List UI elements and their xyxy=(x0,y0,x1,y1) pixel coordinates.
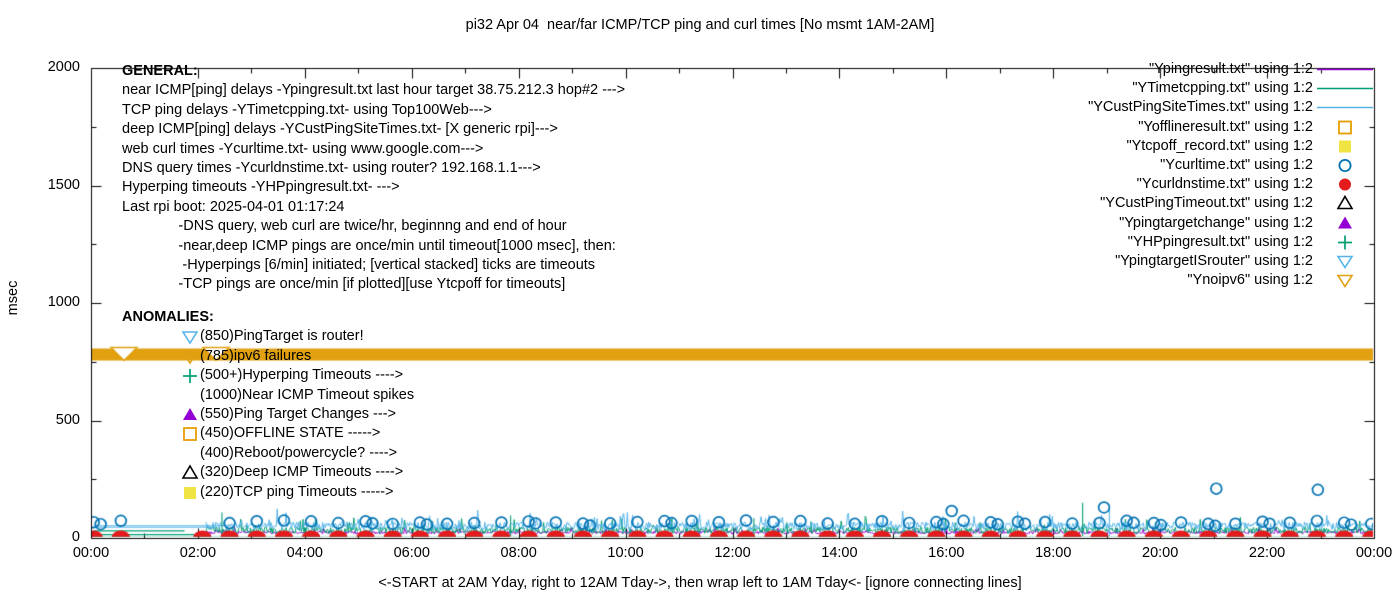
x-tick-label: 04:00 xyxy=(265,545,345,561)
legend-item[interactable]: "YCustPingTimeout.txt" using 1:2 xyxy=(1010,194,1375,213)
anomaly-item: (220)TCP ping Timeouts -----> xyxy=(122,483,642,502)
legend-item[interactable]: "Ypingtargetchange" using 1:2 xyxy=(1010,214,1375,233)
legend-item[interactable]: "YHPpingresult.txt" using 1:2 xyxy=(1010,233,1375,252)
anomaly-label: (1000)Near ICMP Timeout spikes xyxy=(200,387,414,403)
x-tick-label: 12:00 xyxy=(693,545,773,561)
legend-item[interactable]: "YTimetcpping.txt" using 1:2 xyxy=(1010,79,1375,98)
legend-item-label: "Ypingresult.txt" using 1:2 xyxy=(1149,60,1313,79)
general-note-line: Hyperping timeouts -YHPpingresult.txt- -… xyxy=(122,178,625,197)
x-tick-label: 08:00 xyxy=(479,545,559,561)
x-tick-label: 00:00 xyxy=(1334,545,1400,561)
anomaly-label: (450)OFFLINE STATE -----> xyxy=(200,425,380,441)
anomaly-item: (400)Reboot/powercycle? ----> xyxy=(122,444,642,463)
legend-item[interactable]: "YpingtargetISrouter" using 1:2 xyxy=(1010,252,1375,271)
legend-key-triangle-filled-icon xyxy=(1315,214,1375,233)
general-note-line: web curl times -Ycurltime.txt- using www… xyxy=(122,140,625,159)
y-axis-ticks: 0500100015002000 xyxy=(20,0,80,600)
anomaly-label: (220)TCP ping Timeouts -----> xyxy=(200,484,394,500)
x-tick-label: 20:00 xyxy=(1120,545,1200,561)
anomaly-triangle-down-open-icon xyxy=(180,327,200,346)
legend-item[interactable]: "Ytcpoff_record.txt" using 1:2 xyxy=(1010,137,1375,156)
legend-item-label: "YpingtargetISrouter" using 1:2 xyxy=(1115,252,1313,271)
x-tick-label: 02:00 xyxy=(158,545,238,561)
anomaly-item: (320)Deep ICMP Timeouts ----> xyxy=(122,463,642,482)
x-tick-label: 22:00 xyxy=(1227,545,1307,561)
legend-item[interactable]: "Ypingresult.txt" using 1:2 xyxy=(1010,60,1375,79)
anomaly-label: (550)Ping Target Changes ---> xyxy=(200,406,396,422)
legend-key-line-icon xyxy=(1315,79,1375,98)
general-note-line: -TCP pings are once/min [if plotted][use… xyxy=(122,275,625,294)
legend-item-label: "YTimetcpping.txt" using 1:2 xyxy=(1132,79,1313,98)
general-note-line: -Hyperpings [6/min] initiated; [vertical… xyxy=(122,256,625,275)
legend-key-line-icon xyxy=(1315,60,1375,79)
legend-item-label: "Yofflineresult.txt" using 1:2 xyxy=(1138,118,1313,137)
anomaly-label: (850)PingTarget is router! xyxy=(200,328,364,344)
anomaly-label: (500+)Hyperping Timeouts ----> xyxy=(200,367,403,383)
legend-key-circle-filled-icon xyxy=(1315,175,1375,194)
x-tick-label: 10:00 xyxy=(586,545,666,561)
y-tick-label: 1500 xyxy=(20,177,80,193)
x-tick-label: 00:00 xyxy=(51,545,131,561)
legend-item-label: "Ytcpoff_record.txt" using 1:2 xyxy=(1126,137,1313,156)
anomaly-none-icon xyxy=(180,386,200,405)
legend-key-circle-open-icon xyxy=(1315,156,1375,175)
legend-item[interactable]: "Ycurltime.txt" using 1:2 xyxy=(1010,156,1375,175)
x-tick-label: 16:00 xyxy=(906,545,986,561)
anomaly-triangle-open-icon xyxy=(180,463,200,482)
general-note-line: -DNS query, web curl are twice/hr, begin… xyxy=(122,217,625,236)
general-heading: GENERAL: xyxy=(122,62,625,81)
x-tick-label: 14:00 xyxy=(799,545,879,561)
anomaly-square-filled-icon xyxy=(180,483,200,502)
x-tick-label: 06:00 xyxy=(372,545,452,561)
legend-key-triangle-open-icon xyxy=(1315,194,1375,213)
legend-key-square-open-icon xyxy=(1315,118,1375,137)
general-note-line: -near,deep ICMP pings are once/min until… xyxy=(122,237,625,256)
y-axis-label: msec xyxy=(5,268,21,328)
anomaly-label: (785)ipv6 failures xyxy=(200,348,311,364)
legend-key-triangle-down-orange-icon xyxy=(1315,271,1375,290)
anomalies-block: ANOMALIES:(850)PingTarget is router!(785… xyxy=(122,308,642,502)
general-note-line: near ICMP[ping] delays -Ypingresult.txt … xyxy=(122,81,625,100)
chart-root: pi32 Apr 04 near/far ICMP/TCP ping and c… xyxy=(0,0,1400,600)
anomaly-square-open-icon xyxy=(180,424,200,443)
anomaly-item: (785)ipv6 failures xyxy=(122,347,642,366)
general-notes-block: GENERAL:near ICMP[ping] delays -Ypingres… xyxy=(122,62,625,295)
legend-key-plus-icon xyxy=(1315,233,1375,252)
general-note-line: DNS query times -Ycurldnstime.txt- using… xyxy=(122,159,625,178)
legend-item-label: "YCustPingTimeout.txt" using 1:2 xyxy=(1100,194,1313,213)
general-note-line: TCP ping delays -YTimetcpping.txt- using… xyxy=(122,101,625,120)
legend-item[interactable]: "Ycurldnstime.txt" using 1:2 xyxy=(1010,175,1375,194)
anomaly-label: (400)Reboot/powercycle? ----> xyxy=(200,445,397,461)
general-note-line: Last rpi boot: 2025-04-01 01:17:24 xyxy=(122,198,625,217)
legend-key-triangle-down-open-icon xyxy=(1315,252,1375,271)
anomaly-item: (1000)Near ICMP Timeout spikes xyxy=(122,386,642,405)
general-note-line: deep ICMP[ping] delays -YCustPingSiteTim… xyxy=(122,120,625,139)
legend-item-label: "YHPpingresult.txt" using 1:2 xyxy=(1128,233,1313,252)
legend-item-label: "Ycurltime.txt" using 1:2 xyxy=(1160,156,1313,175)
anomaly-none-icon xyxy=(180,444,200,463)
anomaly-item: (550)Ping Target Changes ---> xyxy=(122,405,642,424)
legend-item-label: "Ynoipv6" using 1:2 xyxy=(1187,271,1313,290)
legend-item-label: "Ycurldnstime.txt" using 1:2 xyxy=(1137,175,1313,194)
legend-key-square-filled-icon xyxy=(1315,137,1375,156)
legend-item[interactable]: "Ynoipv6" using 1:2 xyxy=(1010,271,1375,290)
anomaly-triangle-filled-icon xyxy=(180,405,200,424)
anomaly-plus-icon xyxy=(180,366,200,385)
legend-item[interactable]: "YCustPingSiteTimes.txt" using 1:2 xyxy=(1010,98,1375,117)
legend-item-label: "Ypingtargetchange" using 1:2 xyxy=(1119,214,1313,233)
anomalies-heading: ANOMALIES: xyxy=(122,308,642,327)
legend-key-line-icon xyxy=(1315,98,1375,117)
y-tick-label: 500 xyxy=(20,412,80,428)
x-tick-label: 18:00 xyxy=(1013,545,1093,561)
legend: "Ypingresult.txt" using 1:2"YTimetcpping… xyxy=(1010,60,1375,290)
legend-item[interactable]: "Yofflineresult.txt" using 1:2 xyxy=(1010,118,1375,137)
anomaly-item: (450)OFFLINE STATE -----> xyxy=(122,424,642,443)
y-tick-label: 0 xyxy=(20,529,80,545)
y-tick-label: 2000 xyxy=(20,59,80,75)
anomaly-item: (850)PingTarget is router! xyxy=(122,327,642,346)
x-axis-caption: <-START at 2AM Yday, right to 12AM Tday-… xyxy=(0,575,1400,591)
legend-item-label: "YCustPingSiteTimes.txt" using 1:2 xyxy=(1088,98,1313,117)
anomaly-triangle-down-orange-icon xyxy=(180,347,200,366)
anomaly-label: (320)Deep ICMP Timeouts ----> xyxy=(200,464,403,480)
anomaly-item: (500+)Hyperping Timeouts ----> xyxy=(122,366,642,385)
y-tick-label: 1000 xyxy=(20,294,80,310)
